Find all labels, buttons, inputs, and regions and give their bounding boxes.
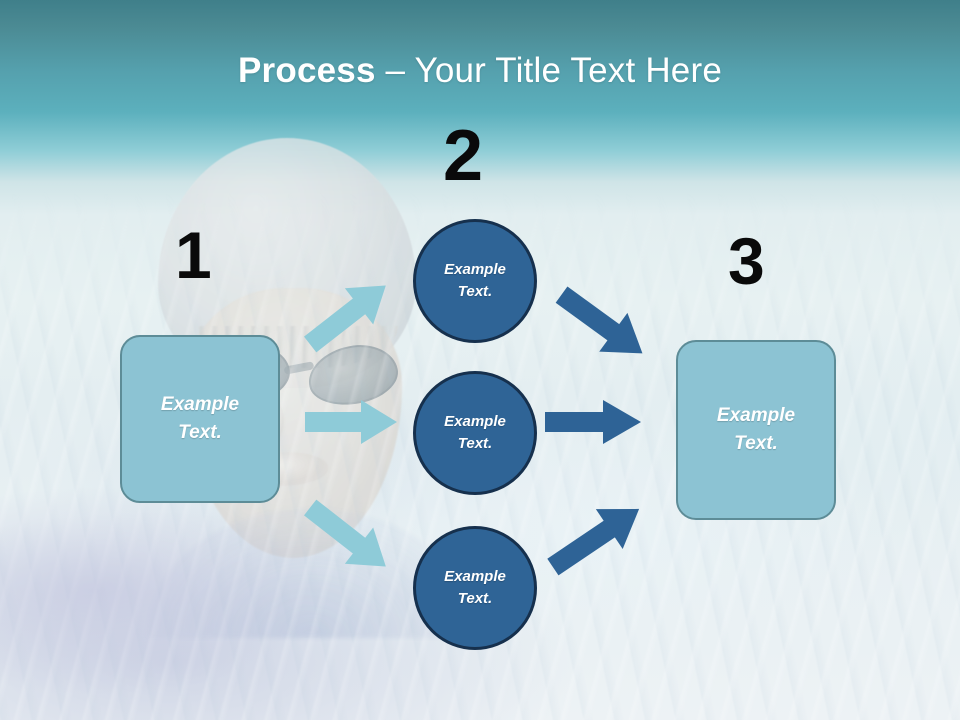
process-circle-3-line1: Example — [444, 566, 506, 588]
slide-title-bold: Process — [238, 51, 376, 90]
arrow-right-dark-icon — [545, 398, 641, 446]
process-circle-2-text: Example Text. — [444, 411, 506, 455]
process-box-right-line2: Text. — [717, 430, 795, 458]
process-box-right[interactable]: Example Text. — [676, 340, 836, 520]
arrow-right-light-icon — [305, 398, 397, 446]
process-circle-3-line2: Text. — [444, 588, 506, 610]
process-box-right-text: Example Text. — [717, 402, 795, 458]
process-circle-2[interactable]: Example Text. — [413, 371, 537, 495]
slide-title-regular: – Your Title Text Here — [376, 51, 722, 90]
process-circle-2-line1: Example — [444, 411, 506, 433]
process-box-left-line2: Text. — [161, 419, 239, 447]
process-circle-2-line2: Text. — [444, 433, 506, 455]
slide-canvas: Process – Your Title Text Here 1 2 3 Exa… — [0, 0, 960, 720]
process-circle-1[interactable]: Example Text. — [413, 219, 537, 343]
process-circle-3[interactable]: Example Text. — [413, 526, 537, 650]
arrow-down-right-light-icon — [296, 498, 400, 576]
process-circle-1-text: Example Text. — [444, 259, 506, 303]
process-box-right-line1: Example — [717, 402, 795, 430]
process-box-left-text: Example Text. — [161, 391, 239, 447]
arrow-up-right-dark-icon — [540, 497, 652, 579]
process-box-left[interactable]: Example Text. — [120, 335, 280, 503]
arrow-up-right-light-icon — [296, 276, 400, 354]
process-circle-1-line1: Example — [444, 259, 506, 281]
step-number-1: 1 — [175, 222, 212, 288]
step-number-3: 3 — [728, 228, 765, 294]
slide-title: Process – Your Title Text Here — [0, 50, 960, 92]
process-circle-1-line2: Text. — [444, 281, 506, 303]
step-number-2: 2 — [443, 120, 483, 192]
arrow-down-right-dark-icon — [548, 283, 656, 365]
process-circle-3-text: Example Text. — [444, 566, 506, 610]
process-box-left-line1: Example — [161, 391, 239, 419]
